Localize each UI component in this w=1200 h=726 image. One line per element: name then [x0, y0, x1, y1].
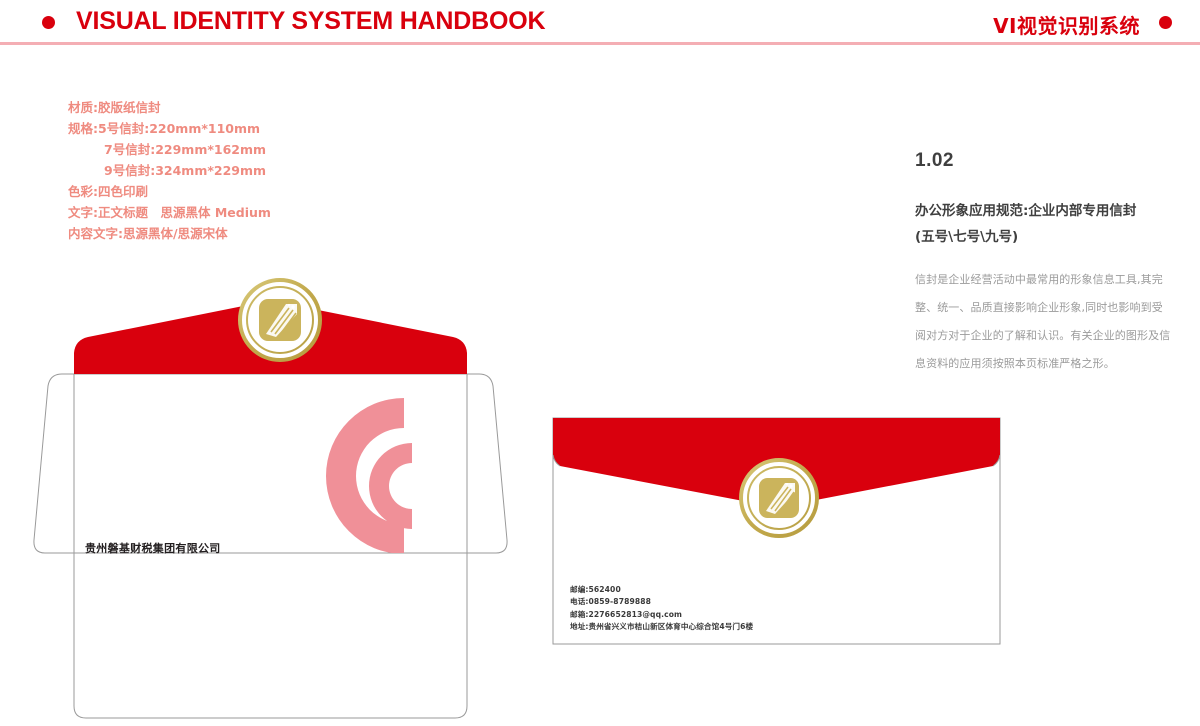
- envelope-large-right-flap: [467, 374, 507, 553]
- envelope-small-contact-block: 邮编:562400 电话:0859-8789888 邮箱:2276652813@…: [570, 584, 753, 633]
- envelope-large-seal: [240, 280, 320, 360]
- contact-postcode: 邮编:562400: [570, 584, 753, 596]
- envelope-large-bottom-flap: [74, 553, 467, 718]
- contact-email: 邮箱:2276652813@qq.com: [570, 609, 753, 621]
- envelope-large-company-name: 贵州磐基财税集团有限公司: [85, 540, 221, 556]
- contact-address: 地址:贵州省兴义市桔山新区体育中心综合馆4号门6楼: [570, 621, 753, 633]
- seal-emblem-icon: [759, 478, 799, 518]
- envelope-small-seal: [741, 460, 817, 536]
- envelope-large-group: [34, 280, 507, 718]
- contact-phone: 电话:0859-8789888: [570, 596, 753, 608]
- seal-emblem-icon: [259, 299, 301, 341]
- envelope-large-left-flap: [34, 374, 74, 553]
- envelope-artwork-stage: 贵州磐基财税集团有限公司 邮编:562400 电话:0859-8789888 邮…: [0, 0, 1200, 726]
